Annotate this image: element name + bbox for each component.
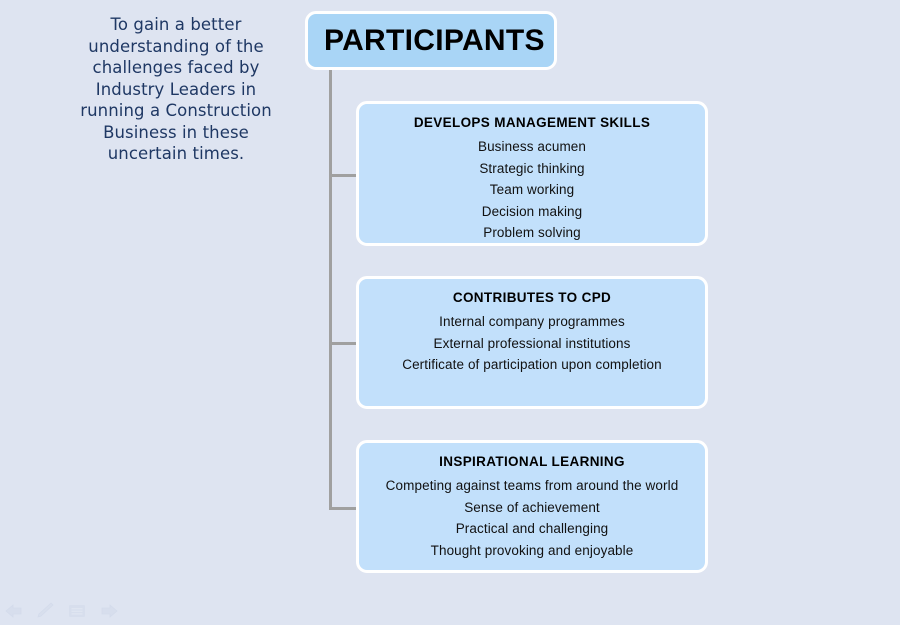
card-line: Business acumen (369, 136, 695, 158)
forward-arrow-icon[interactable] (97, 602, 119, 620)
card-line: Certificate of participation upon comple… (369, 354, 695, 376)
participants-title: PARTICIPANTS (308, 24, 545, 58)
card-line: External professional institutions (369, 333, 695, 355)
connector-trunk (329, 70, 332, 510)
card-heading: CONTRIBUTES TO CPD (369, 288, 695, 308)
lines-icon[interactable] (66, 602, 88, 620)
card-line: Sense of achievement (369, 497, 695, 519)
intro-paragraph: To gain a better understanding of the ch… (62, 14, 290, 165)
card-line: Decision making (369, 201, 695, 223)
diagram-canvas: To gain a better understanding of the ch… (0, 0, 900, 625)
watermark-toolbar (4, 602, 119, 620)
participants-header-node[interactable]: PARTICIPANTS (305, 11, 557, 70)
card-line: Practical and challenging (369, 518, 695, 540)
card-line: Thought provoking and enjoyable (369, 540, 695, 562)
connector-branch-3 (329, 507, 357, 510)
card-inspirational-learning[interactable]: INSPIRATIONAL LEARNING Competing against… (356, 440, 708, 573)
card-develops-management-skills[interactable]: DEVELOPS MANAGEMENT SKILLS Business acum… (356, 101, 708, 246)
card-line: Strategic thinking (369, 158, 695, 180)
connector-branch-2 (329, 342, 357, 345)
card-line: Team working (369, 179, 695, 201)
back-arrow-icon[interactable] (4, 602, 26, 620)
card-line: Internal company programmes (369, 311, 695, 333)
pencil-icon[interactable] (35, 602, 57, 620)
card-heading: INSPIRATIONAL LEARNING (369, 452, 695, 472)
card-line: Competing against teams from around the … (369, 475, 695, 497)
card-contributes-to-cpd[interactable]: CONTRIBUTES TO CPD Internal company prog… (356, 276, 708, 409)
card-heading: DEVELOPS MANAGEMENT SKILLS (369, 113, 695, 133)
connector-branch-1 (329, 174, 357, 177)
card-line: Problem solving (369, 222, 695, 244)
